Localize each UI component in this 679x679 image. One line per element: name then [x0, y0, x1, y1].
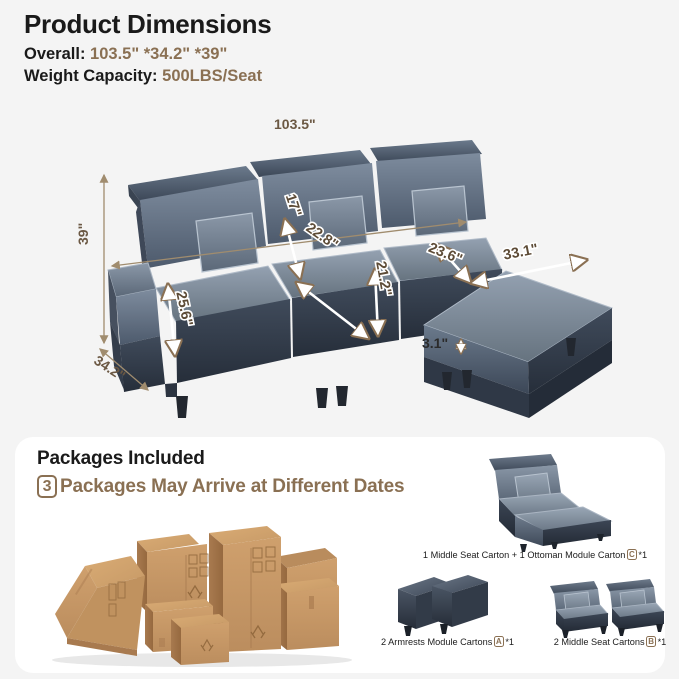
box-tilted-left — [55, 556, 145, 656]
box-right-mid — [277, 578, 339, 650]
overall-dimensions-line: Overall: 103.5" *34.2" *39" — [24, 43, 644, 66]
cardboard-boxes-illustration — [37, 522, 367, 667]
package-caption-carton-b: 2 Middle Seat Cartons B *1 — [520, 636, 679, 647]
page-title: Product Dimensions — [24, 8, 644, 41]
packages-title: Packages Included — [37, 448, 205, 470]
box-small-front — [171, 614, 229, 665]
overall-label: Overall: — [24, 45, 85, 63]
weight-value: 500LBS/Seat — [162, 67, 262, 85]
package-thumb-carton-c — [415, 449, 655, 559]
product-infographic: Product Dimensions Overall: 103.5" *34.2… — [0, 0, 679, 679]
package-item-carton-a: 2 Armrests Module Cartons A *1 — [360, 572, 535, 647]
weight-capacity-line: Weight Capacity: 500LBS/Seat — [24, 65, 644, 88]
carton-letter-badge-b: B — [646, 636, 656, 647]
header: Product Dimensions Overall: 103.5" *34.2… — [24, 8, 644, 88]
package-item-carton-b: 2 Middle Seat Cartons B *1 — [520, 572, 679, 647]
sofa-body — [108, 140, 612, 418]
packages-included-card: Packages Included 3 Packages May Arrive … — [15, 437, 665, 673]
package-caption-carton-a: 2 Armrests Module Cartons A *1 — [360, 636, 535, 647]
sofa-dimension-diagram: 103.5" 39" 34.2" 17" 22.8" 25.6" 21.2" 2… — [0, 100, 679, 420]
weight-label: Weight Capacity: — [24, 67, 158, 85]
packages-subtitle: Packages May Arrive at Different Dates — [60, 476, 404, 498]
carton-letter-badge-c: C — [627, 549, 637, 560]
package-count-badge: 3 — [37, 475, 57, 498]
packages-subtitle-row: 3 Packages May Arrive at Different Dates — [37, 475, 404, 498]
sofa-illustration — [0, 100, 679, 420]
package-caption-carton-c: 1 Middle Seat Carton + 1 Ottoman Module … — [415, 549, 655, 560]
overall-value: 103.5" *34.2" *39" — [90, 45, 227, 63]
carton-letter-badge-a: A — [494, 636, 504, 647]
package-item-carton-c: 1 Middle Seat Carton + 1 Ottoman Module … — [415, 449, 655, 559]
left-armrest — [108, 263, 165, 392]
